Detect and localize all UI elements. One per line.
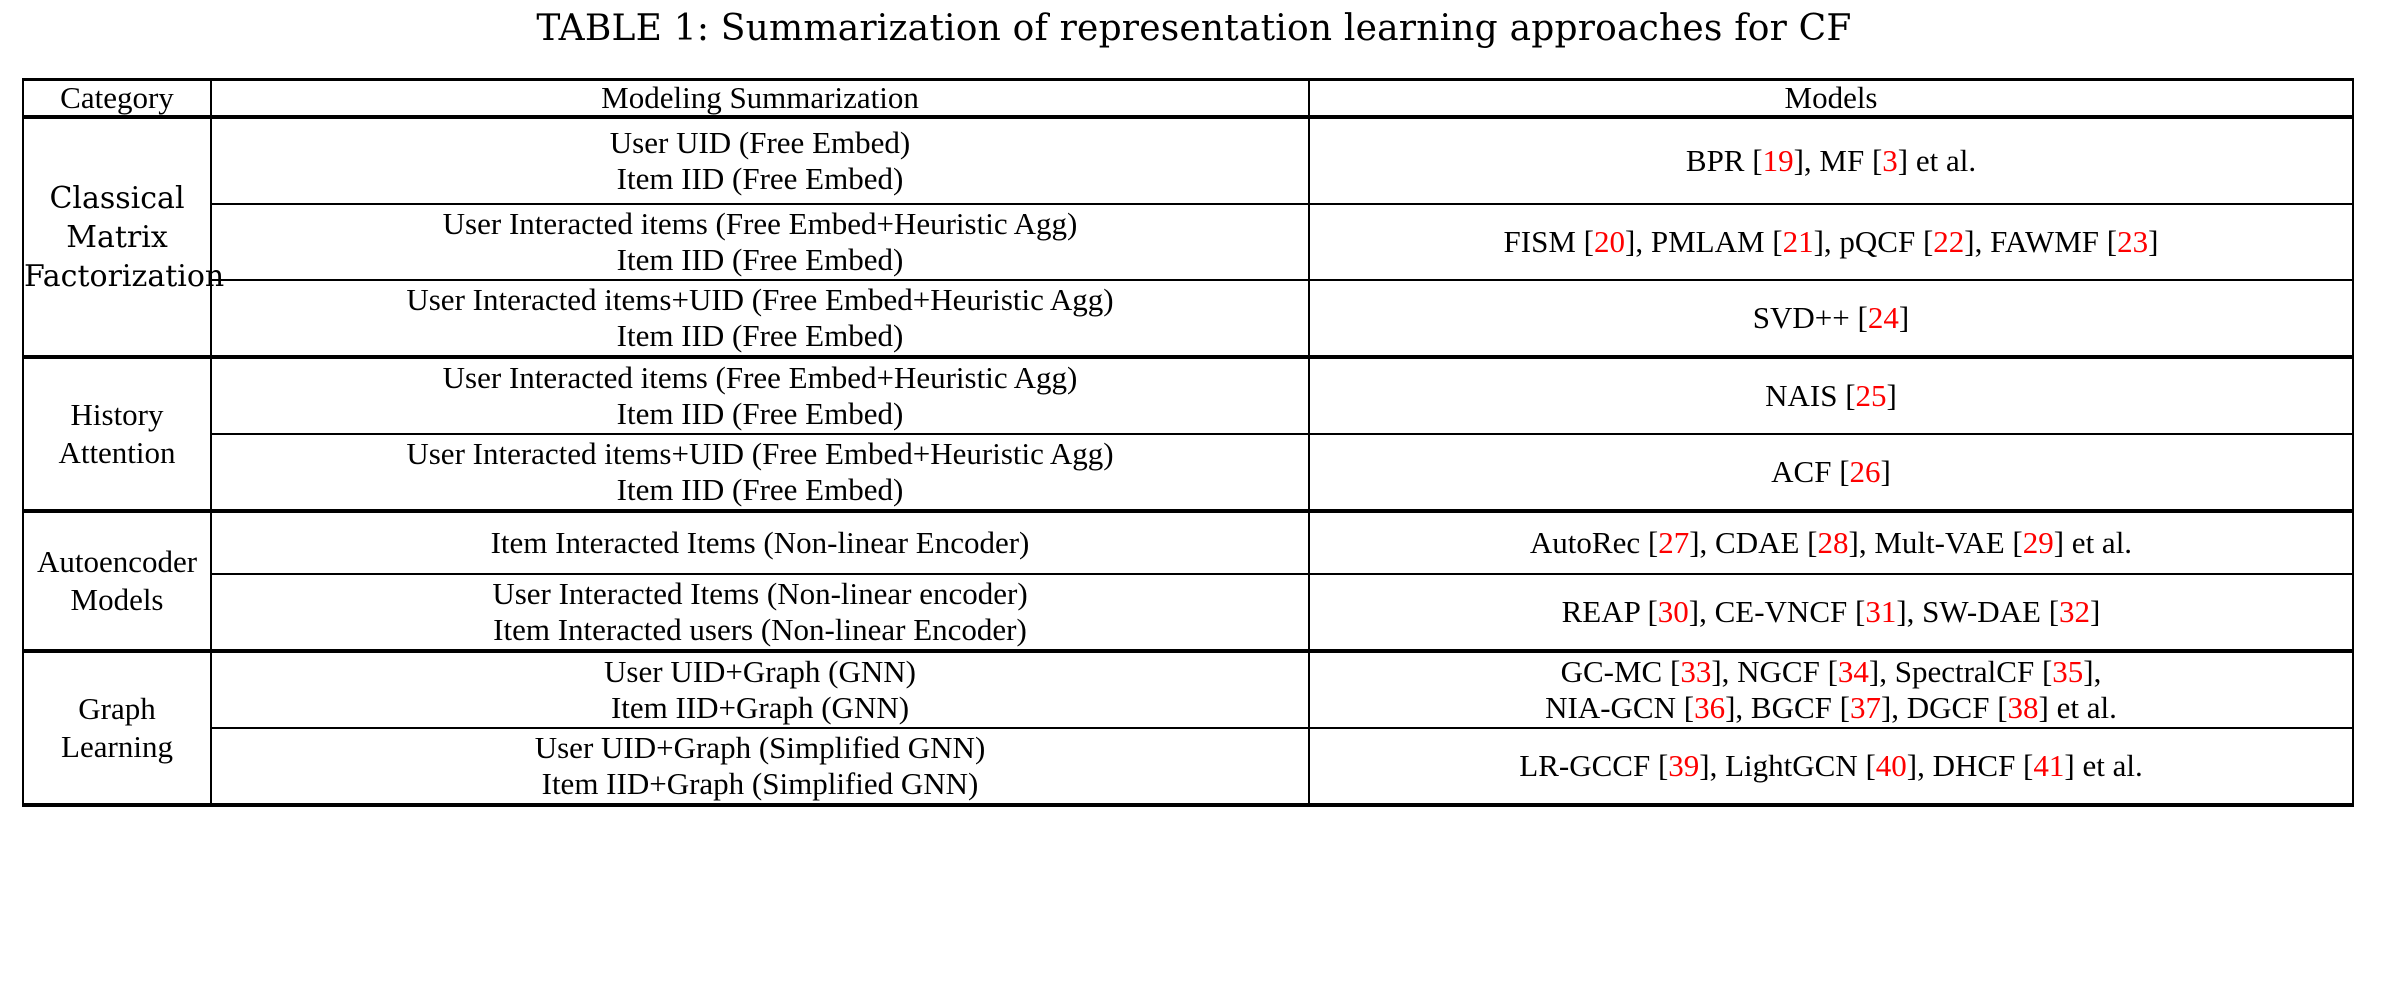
category-line: Autoencoder [24, 543, 210, 581]
category-cell-history-attention: History Attention [23, 357, 211, 511]
models-cell: AutoRec [27], CDAE [28], Mult-VAE [29] e… [1309, 511, 2353, 574]
summarization-cell: User Interacted items+UID (Free Embed+He… [211, 280, 1309, 357]
summarization-line: User Interacted items+UID (Free Embed+He… [212, 436, 1308, 472]
models-cell: SVD++ [24] [1309, 280, 2353, 357]
summarization-line: Item IID (Free Embed) [212, 396, 1308, 432]
table-row: Autoencoder Models Item Interacted Items… [23, 511, 2353, 574]
category-line: Factorization [24, 257, 210, 296]
models-cell: LR-GCCF [39], LightGCN [40], DHCF [41] e… [1309, 728, 2353, 805]
summarization-line: User Interacted items (Free Embed+Heuris… [212, 206, 1308, 242]
table-row: Graph Learning User UID+Graph (GNN) Item… [23, 651, 2353, 728]
summarization-line: User UID+Graph (GNN) [212, 654, 1308, 690]
summarization-line: User Interacted items+UID (Free Embed+He… [212, 282, 1308, 318]
summarization-cell: User Interacted Items (Non-linear encode… [211, 574, 1309, 651]
models-cell: ACF [26] [1309, 434, 2353, 511]
summary-table: Category Modeling Summarization Models C… [22, 78, 2354, 807]
summarization-cell: User UID+Graph (Simplified GNN) Item IID… [211, 728, 1309, 805]
table-row: User Interacted Items (Non-linear encode… [23, 574, 2353, 651]
summarization-cell: User UID+Graph (GNN) Item IID+Graph (GNN… [211, 651, 1309, 728]
category-cell-classical-matrix-factorization: Classical Matrix Factorization [23, 117, 211, 357]
summarization-line: User UID+Graph (Simplified GNN) [212, 730, 1308, 766]
summarization-line: User Interacted items (Free Embed+Heuris… [212, 360, 1308, 396]
table-row: User Interacted items+UID (Free Embed+He… [23, 280, 2353, 357]
models-line: FISM [20], PMLAM [21], pQCF [22], FAWMF … [1310, 224, 2352, 260]
summarization-line: Item IID+Graph (Simplified GNN) [212, 766, 1308, 802]
summarization-cell: User Interacted items+UID (Free Embed+He… [211, 434, 1309, 511]
summarization-line: Item IID+Graph (GNN) [212, 690, 1308, 726]
column-header-category: Category [23, 80, 211, 118]
models-line: GC-MC [33], NGCF [34], SpectralCF [35], [1310, 654, 2352, 690]
table-row: History Attention User Interacted items … [23, 357, 2353, 434]
column-header-summarization: Modeling Summarization [211, 80, 1309, 118]
models-line: AutoRec [27], CDAE [28], Mult-VAE [29] e… [1310, 525, 2352, 561]
models-line: ACF [26] [1310, 454, 2352, 490]
table-caption: TABLE 1: Summarization of representation… [0, 6, 2388, 52]
table-header-row: Category Modeling Summarization Models [23, 80, 2353, 118]
category-line: Matrix [24, 218, 210, 257]
summarization-line: Item IID (Free Embed) [212, 472, 1308, 508]
category-cell-graph-learning: Graph Learning [23, 651, 211, 805]
table-row: User UID+Graph (Simplified GNN) Item IID… [23, 728, 2353, 805]
summarization-line: User UID (Free Embed) [212, 125, 1308, 161]
summarization-line: Item Interacted users (Non-linear Encode… [212, 612, 1308, 648]
models-line: REAP [30], CE-VNCF [31], SW-DAE [32] [1310, 594, 2352, 630]
category-line: Learning [24, 728, 210, 766]
category-line: History [24, 396, 210, 434]
table-page: TABLE 1: Summarization of representation… [0, 0, 2388, 983]
table-row: Classical Matrix Factorization User UID … [23, 117, 2353, 204]
models-line: SVD++ [24] [1310, 300, 2352, 336]
summarization-line: User Interacted Items (Non-linear encode… [212, 576, 1308, 612]
summarization-line: Item Interacted Items (Non-linear Encode… [212, 525, 1308, 561]
models-cell: NAIS [25] [1309, 357, 2353, 434]
models-cell: REAP [30], CE-VNCF [31], SW-DAE [32] [1309, 574, 2353, 651]
models-line: NAIS [25] [1310, 378, 2352, 414]
summarization-line: Item IID (Free Embed) [212, 318, 1308, 354]
table-row: User Interacted items (Free Embed+Heuris… [23, 204, 2353, 280]
summarization-cell: Item Interacted Items (Non-linear Encode… [211, 511, 1309, 574]
models-cell: BPR [19], MF [3] et al. [1309, 117, 2353, 204]
summarization-line: Item IID (Free Embed) [212, 161, 1308, 197]
summarization-cell: User Interacted items (Free Embed+Heuris… [211, 204, 1309, 280]
summarization-line: Item IID (Free Embed) [212, 242, 1308, 278]
category-line: Models [24, 581, 210, 619]
table-row: User Interacted items+UID (Free Embed+He… [23, 434, 2353, 511]
models-line: BPR [19], MF [3] et al. [1310, 143, 2352, 179]
category-line: Classical [24, 179, 210, 218]
summarization-cell: User UID (Free Embed) Item IID (Free Emb… [211, 117, 1309, 204]
category-cell-autoencoder-models: Autoencoder Models [23, 511, 211, 651]
summarization-cell: User Interacted items (Free Embed+Heuris… [211, 357, 1309, 434]
category-line: Graph [24, 690, 210, 728]
models-cell: GC-MC [33], NGCF [34], SpectralCF [35], … [1309, 651, 2353, 728]
models-cell: FISM [20], PMLAM [21], pQCF [22], FAWMF … [1309, 204, 2353, 280]
models-line: NIA-GCN [36], BGCF [37], DGCF [38] et al… [1310, 690, 2352, 726]
category-line: Attention [24, 434, 210, 472]
models-line: LR-GCCF [39], LightGCN [40], DHCF [41] e… [1310, 748, 2352, 784]
column-header-models: Models [1309, 80, 2353, 118]
